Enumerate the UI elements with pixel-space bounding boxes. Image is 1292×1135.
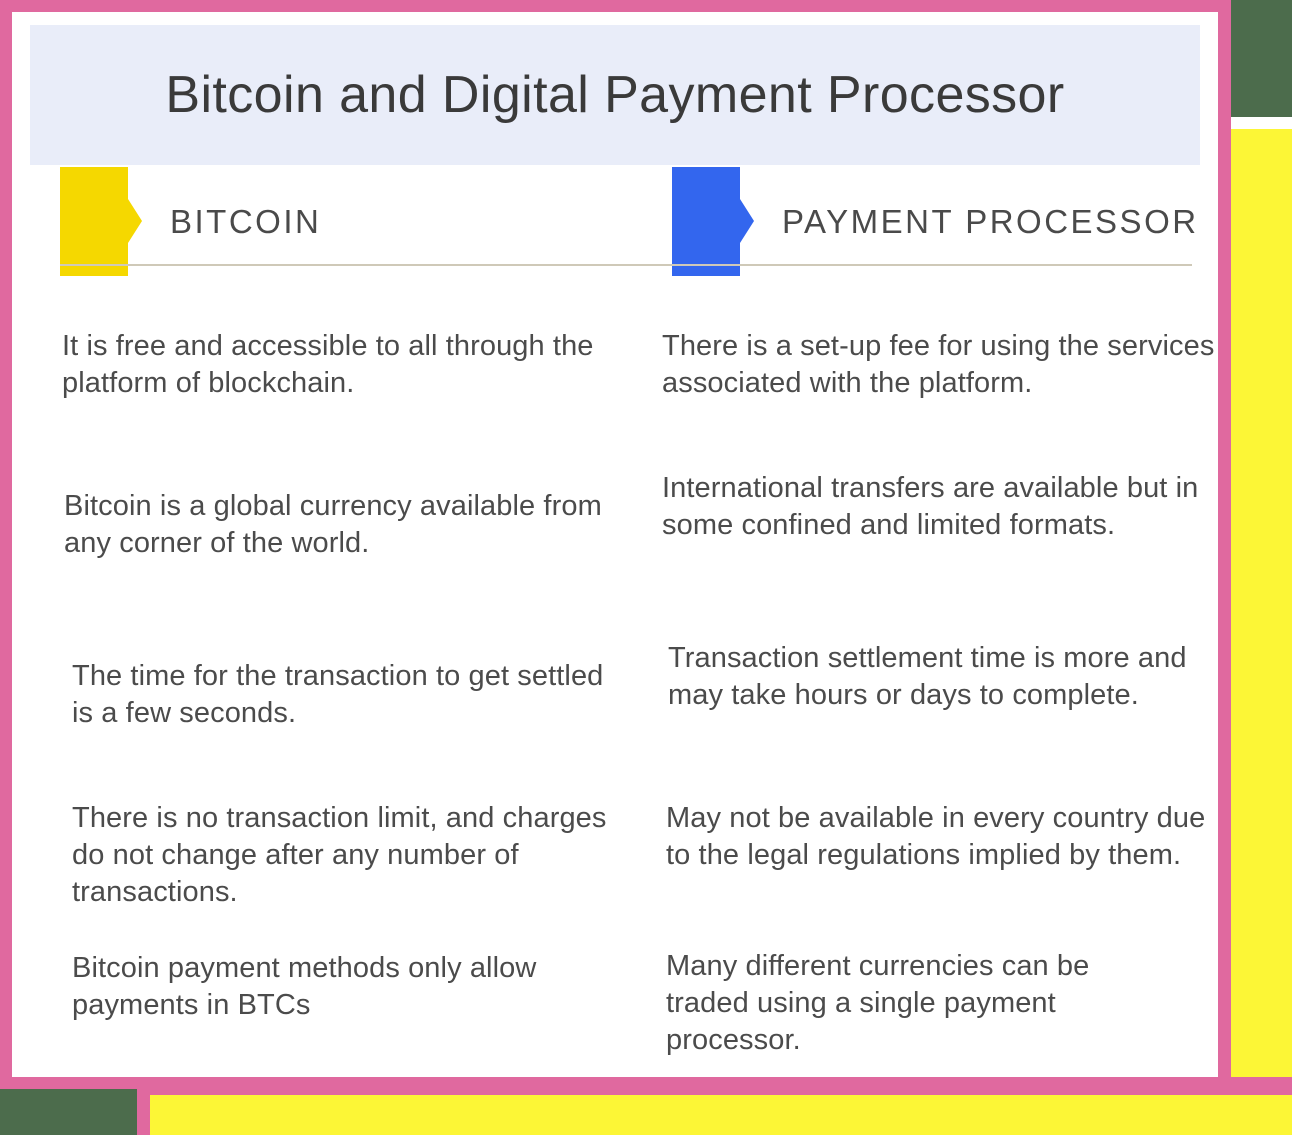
page-title: Bitcoin and Digital Payment Processor [165,69,1064,121]
frame-band-left [0,0,12,1077]
comparison-cell: Bitcoin payment methods only allow payme… [72,950,620,1024]
slide-canvas: Bitcoin and Digital Payment Processor BI… [0,0,1292,1135]
accent-block-green-top-right [1231,0,1292,117]
frame-band-right [1218,0,1231,1135]
column-title-bitcoin: BITCOIN [170,203,321,241]
column-title-payment-processor: PAYMENT PROCESSOR [782,203,1199,241]
content-card: Bitcoin and Digital Payment Processor BI… [12,12,1218,1077]
tag-arrow-body [60,167,128,276]
accent-block-green-bottom-left [0,1089,137,1135]
frame-band-top [0,0,1231,12]
comparison-cell: It is free and accessible to all through… [62,328,610,402]
tag-arrow-point [128,199,142,243]
header-divider [60,264,1192,266]
comparison-cell: International transfers are available bu… [662,470,1202,544]
column-header-bitcoin: BITCOIN [60,167,321,276]
tag-arrow-bitcoin-icon [60,167,138,276]
accent-block-yellow-bottom [150,1095,1292,1135]
tag-arrow-payment-processor-icon [672,167,750,276]
comparison-cell: Many different currencies can be traded … [666,948,1166,1058]
tag-arrow-body [672,167,740,276]
comparison-cell: There is a set-up fee for using the serv… [662,328,1222,402]
comparison-cell: May not be available in every country du… [666,800,1226,874]
comparison-cell: The time for the transaction to get sett… [72,658,620,732]
title-band: Bitcoin and Digital Payment Processor [30,25,1200,165]
column-header-payment-processor: PAYMENT PROCESSOR [672,167,1199,276]
comparison-cell: Transaction settlement time is more and … [668,640,1208,714]
comparison-cell: There is no transaction limit, and charg… [72,800,612,910]
comparison-cell: Bitcoin is a global currency available f… [64,488,612,562]
tag-arrow-point [740,199,754,243]
accent-block-yellow-right [1231,129,1292,1077]
